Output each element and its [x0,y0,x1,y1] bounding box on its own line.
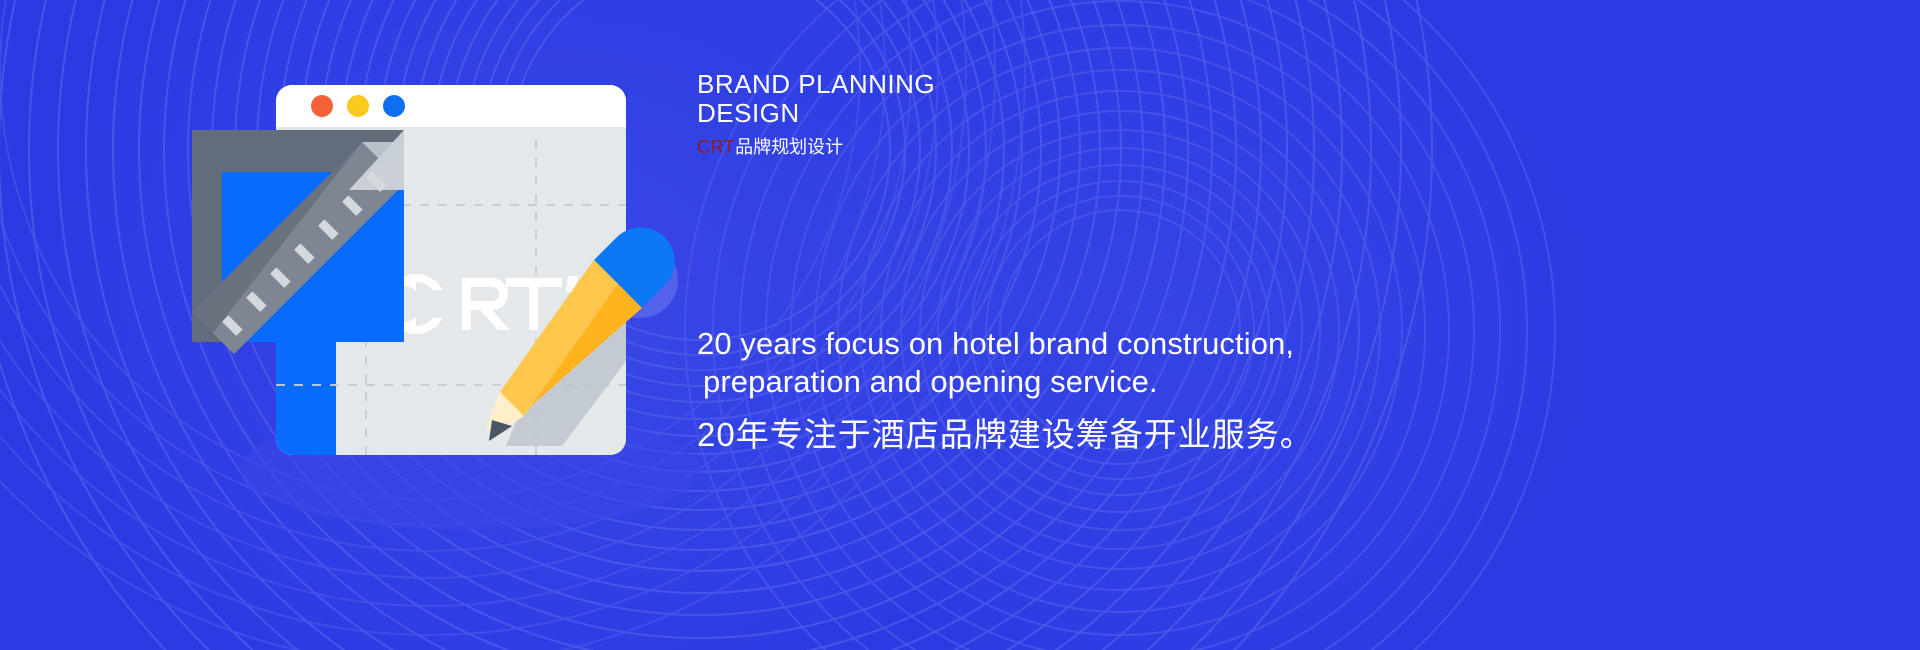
pencil-body-dark [500,260,642,414]
eyebrow-line-2: DESIGN [697,99,1297,128]
triangle-ruler [192,130,404,354]
canvas-crt-logo [376,276,578,330]
pencil-shadow [506,252,672,446]
headline-en-line-2: preparation and opening service. [697,363,1757,401]
minimize-dot [347,95,369,117]
headline-en-line-1: 20 years focus on hotel brand constructi… [697,325,1757,363]
close-dot [311,95,333,117]
ruler-diagonal-bar-light [213,142,404,354]
eyebrow-chinese-text: 品牌规划设计 [735,137,843,157]
window-canvas-area [276,127,626,455]
pencil-wood-cone [486,392,524,436]
composition-shadow [240,410,700,530]
ruler-open-area [234,172,404,342]
canvas-guide-lines [276,140,626,455]
headline-block: 20 years focus on hotel brand constructi… [697,325,1757,455]
crt-wordmark: CRT [697,137,735,157]
eraser-halo [602,242,678,318]
eyebrow-chinese-line: CRT品牌规划设计 [697,136,1297,158]
ruler-outer-body [192,130,404,342]
eyebrow-block: BRAND PLANNING DESIGN CRT品牌规划设计 [697,70,1297,158]
window-traffic-lights [311,95,405,117]
window-body [276,85,626,455]
pencil-graphite-tip [489,420,512,441]
pencil [486,227,675,441]
canvas-blue-panel [236,160,336,455]
banner-text-column: BRAND PLANNING DESIGN CRT品牌规划设计 20 years… [697,0,1817,650]
headline-cn-line: 20年专注于酒店品牌建设筹备开业服务。 [697,415,1757,455]
ruler-tick-marks [222,171,387,336]
pencil-eraser [594,227,675,308]
pencil-body-highlight [500,260,618,416]
ruler-sliver [349,130,404,190]
ruler-diagonal-bar [192,142,404,354]
brand-planning-banner: BRAND PLANNING DESIGN CRT品牌规划设计 20 years… [0,0,1920,650]
eyebrow-line-1: BRAND PLANNING [697,70,1297,99]
maximize-dot [383,95,405,117]
ruler-left-leg [192,130,404,342]
browser-window-mockup [236,85,672,455]
ruler-inner-cutout [222,172,362,312]
window-titlebar [276,85,626,127]
